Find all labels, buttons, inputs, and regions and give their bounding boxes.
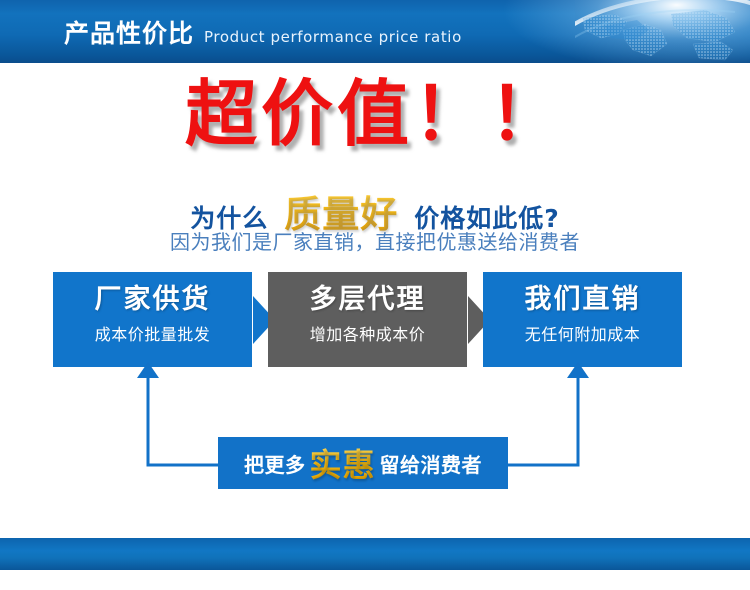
flow-box-title: 我们直销 — [483, 284, 682, 315]
header-title-en: Product performance price ratio — [204, 28, 462, 46]
flow-box-agents: 多层代理 增加各种成本价 — [268, 272, 467, 367]
flow-box-title: 厂家供货 — [53, 284, 252, 315]
flow-box-subtitle: 成本价批量批发 — [53, 321, 252, 345]
flow-box-direct-sales: 我们直销 无任何附加成本 — [483, 272, 682, 367]
banner-prefix: 把更多 — [244, 449, 306, 478]
flow-box-subtitle: 增加各种成本价 — [268, 321, 467, 345]
reason-line: 因为我们是厂家直销，直接把优惠送给消费者 — [0, 226, 750, 255]
world-globe-icon — [575, 0, 750, 63]
banner-suffix: 留给消费者 — [380, 449, 483, 478]
header-title: 产品性价比 Product performance price ratio — [64, 14, 462, 50]
flow-box-title: 多层代理 — [268, 284, 467, 315]
banner-highlight: 实惠 — [309, 440, 375, 486]
flow-box-manufacturer: 厂家供货 成本价批量批发 — [53, 272, 252, 367]
page-header: 产品性价比 Product performance price ratio — [0, 0, 750, 63]
footer-bar — [0, 538, 750, 570]
header-title-cn: 产品性价比 — [64, 14, 194, 50]
main-headline: 超价值！！ — [0, 78, 750, 150]
flow-box-subtitle: 无任何附加成本 — [483, 321, 682, 345]
bottom-banner: 把更多 实惠 留给消费者 — [218, 437, 508, 489]
flow-diagram: 厂家供货 成本价批量批发 多层代理 增加各种成本价 我们直销 无任何附加成本 — [53, 272, 682, 367]
